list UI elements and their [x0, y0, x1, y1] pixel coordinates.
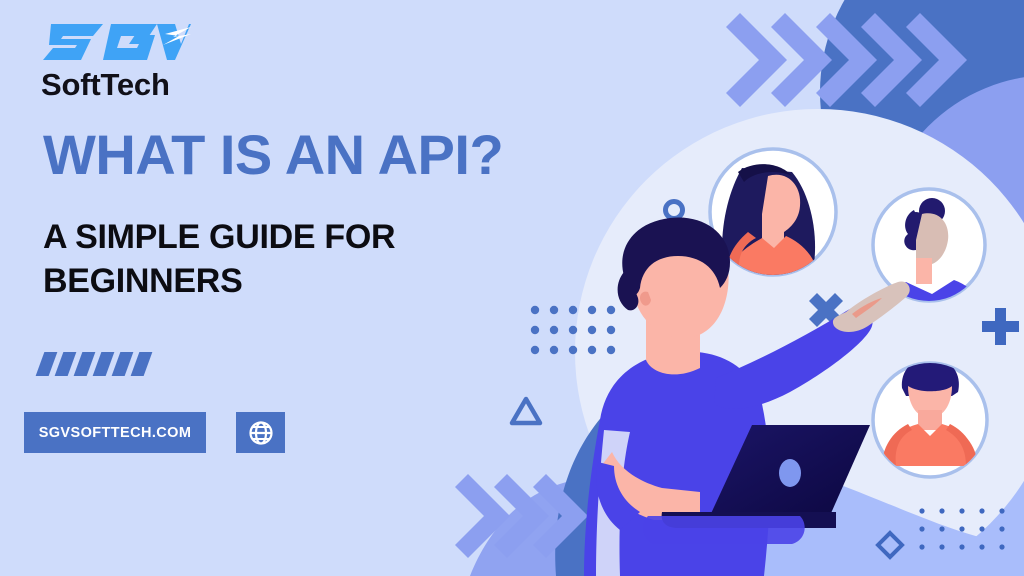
- sgv-logo-icon: [41, 18, 191, 66]
- brand-logo-subtext: SoftTech: [41, 69, 361, 100]
- globe-button[interactable]: [236, 412, 285, 453]
- globe-icon: [248, 420, 274, 446]
- accent-bars: [40, 352, 148, 376]
- accent-bar: [74, 352, 96, 376]
- website-badge-label: SGVSOFTTECH.COM: [39, 425, 192, 441]
- poster-canvas: SoftTech WHAT IS AN API? A SIMPLE GUIDE …: [0, 0, 1024, 576]
- accent-bar: [55, 352, 77, 376]
- accent-bar: [112, 352, 134, 376]
- brand-logo[interactable]: SoftTech: [41, 18, 361, 100]
- accent-bar: [93, 352, 115, 376]
- page-subtitle: A SIMPLE GUIDE FOR BEGINNERS: [43, 216, 513, 303]
- page-title: WHAT IS AN API?: [43, 127, 503, 183]
- website-badge[interactable]: SGVSOFTTECH.COM: [24, 412, 206, 453]
- laptop-logo: [779, 459, 801, 487]
